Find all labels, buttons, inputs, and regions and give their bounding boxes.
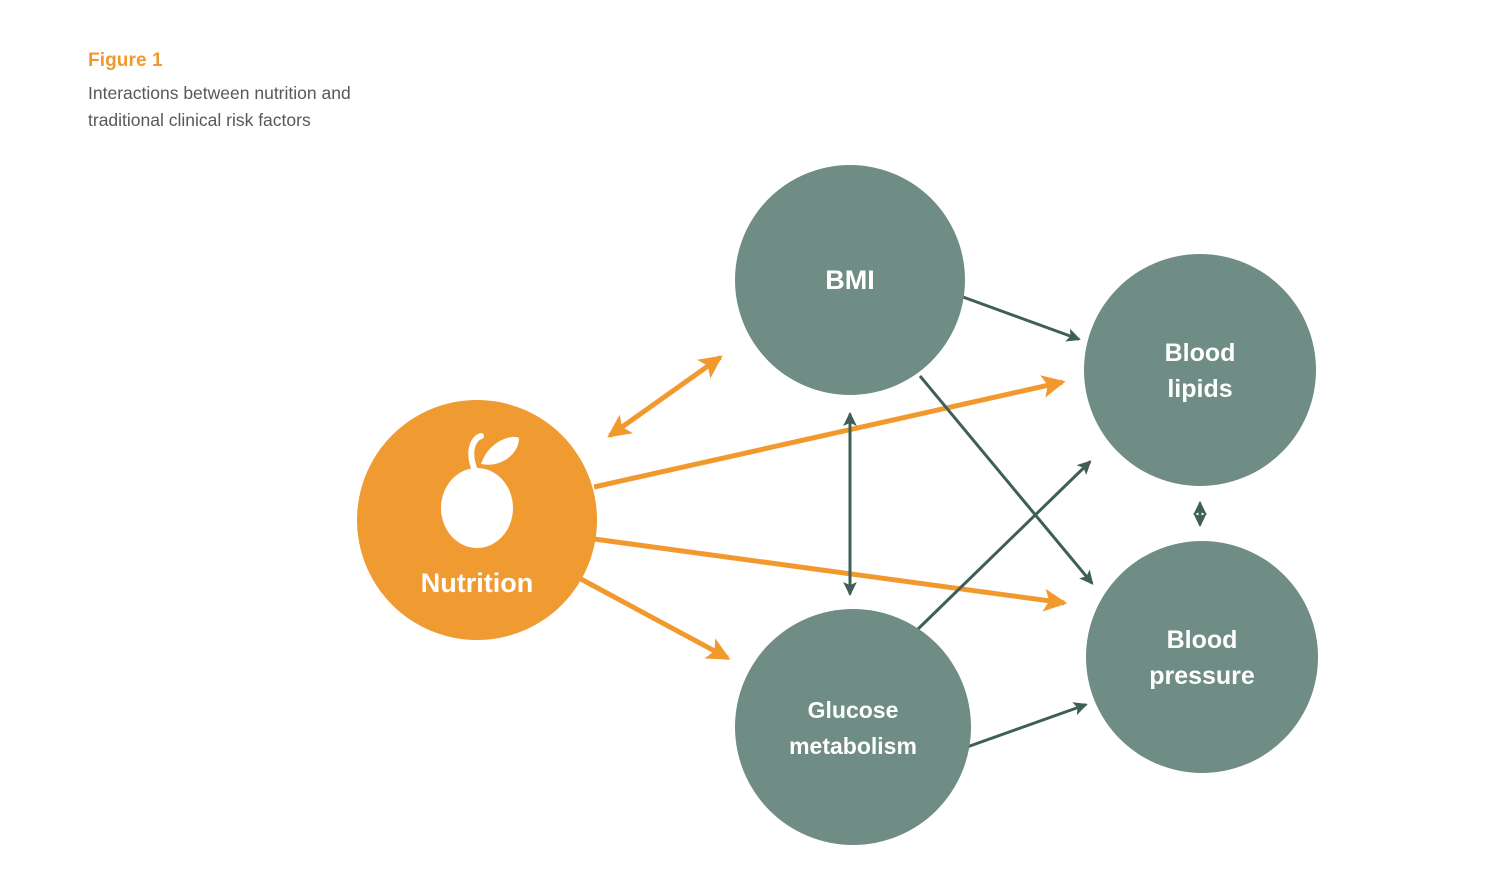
edge-nutrition-blood-pressure: Nutrition to blood pressure xyxy=(594,539,1064,603)
node-blood-pressure[interactable]: Bloodpressure xyxy=(1086,541,1318,773)
edge-glucose-blood-lipids: Glucose metabolism to blood lipids xyxy=(918,462,1090,629)
node-label: Nutrition xyxy=(421,568,533,598)
node-circle[interactable] xyxy=(1084,254,1316,486)
edge-line xyxy=(610,357,720,435)
node-glucose-metabolism[interactable]: Glucosemetabolism xyxy=(735,609,971,845)
edge-bmi-blood-lipids: BMI to blood lipids xyxy=(963,297,1079,339)
edge-nutrition-bmi: Nutrition and BMI xyxy=(610,357,720,435)
interaction-diagram: Nutrition and BMINutrition to blood lipi… xyxy=(0,0,1500,893)
node-nutrition[interactable]: Nutrition xyxy=(357,400,597,640)
edge-line xyxy=(594,539,1064,603)
node-circle[interactable] xyxy=(735,609,971,845)
node-layer: NutritionBMIBloodlipidsGlucosemetabolism… xyxy=(357,165,1318,845)
edge-line xyxy=(579,578,728,658)
node-bmi[interactable]: BMI xyxy=(735,165,965,395)
edge-line xyxy=(953,705,1086,752)
edge-line xyxy=(920,376,1092,583)
edge-bmi-blood-pressure: BMI to blood pressure xyxy=(920,376,1092,583)
edge-nutrition-glucose: Nutrition to glucose metabolism xyxy=(579,578,728,658)
figure-root: Figure 1 Interactions between nutrition … xyxy=(0,0,1500,893)
edge-line xyxy=(918,462,1090,629)
node-blood-lipids[interactable]: Bloodlipids xyxy=(1084,254,1316,486)
edge-line xyxy=(963,297,1079,339)
node-label: BMI xyxy=(825,265,875,295)
diagram-svg: Nutrition and BMINutrition to blood lipi… xyxy=(0,0,1500,893)
node-circle[interactable] xyxy=(1086,541,1318,773)
edge-glucose-blood-pressure: Glucose metabolism to blood pressure xyxy=(953,705,1086,752)
